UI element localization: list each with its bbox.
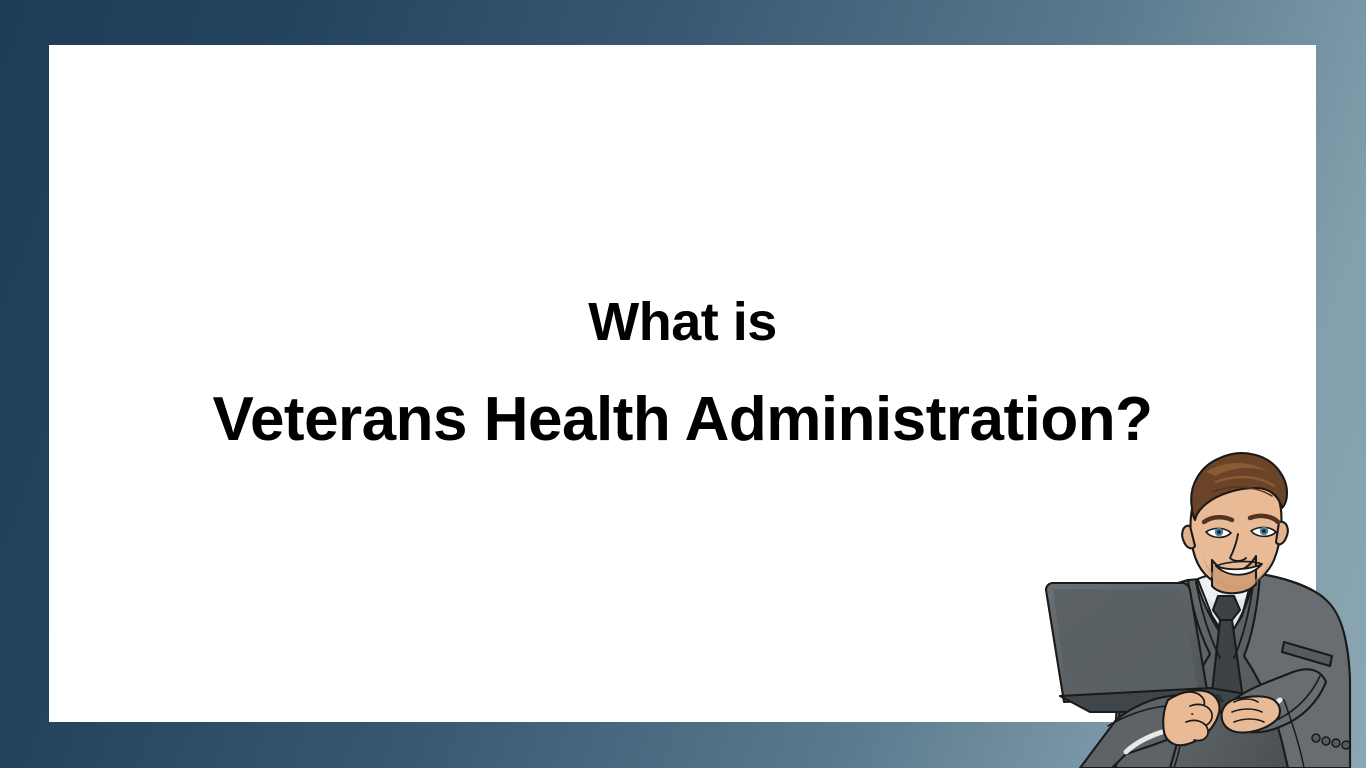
- cuff-left: [1126, 732, 1162, 752]
- title-line-1: What is: [49, 272, 1316, 372]
- suit-sleeve-buttons: [1312, 734, 1350, 749]
- presentation-slide: What is Veterans Health Administration?: [0, 0, 1366, 768]
- page-title: What is Veterans Health Administration?: [49, 272, 1316, 468]
- title-line-2: Veterans Health Administration?: [49, 372, 1316, 468]
